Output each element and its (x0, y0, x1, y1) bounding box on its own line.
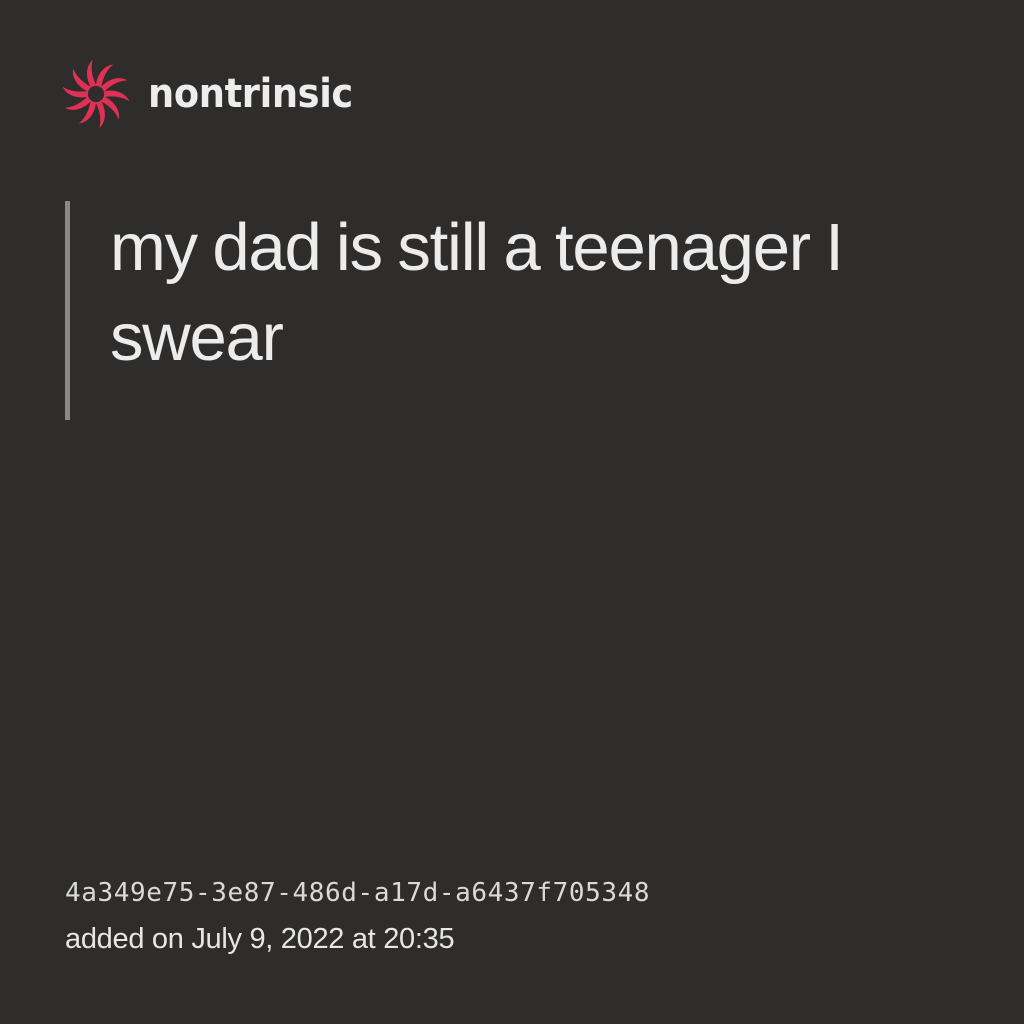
quote-block: my dad is still a teenager I swear (65, 201, 885, 420)
quote-added-timestamp: added on July 9, 2022 at 20:35 (65, 918, 965, 960)
brand-wordmark: nontrinsic (148, 74, 353, 114)
quote-id: 4a349e75-3e87-486d-a17d-a6437f705348 (65, 874, 965, 913)
spiral-pinwheel-icon (62, 60, 130, 128)
quote-card: nontrinsic my dad is still a teenager I … (0, 0, 1024, 1024)
quote-meta: 4a349e75-3e87-486d-a17d-a6437f705348 add… (65, 874, 965, 960)
brand-header[interactable]: nontrinsic (62, 60, 371, 128)
quote-text: my dad is still a teenager I swear (110, 201, 885, 383)
quote-body: my dad is still a teenager I swear (70, 201, 885, 420)
